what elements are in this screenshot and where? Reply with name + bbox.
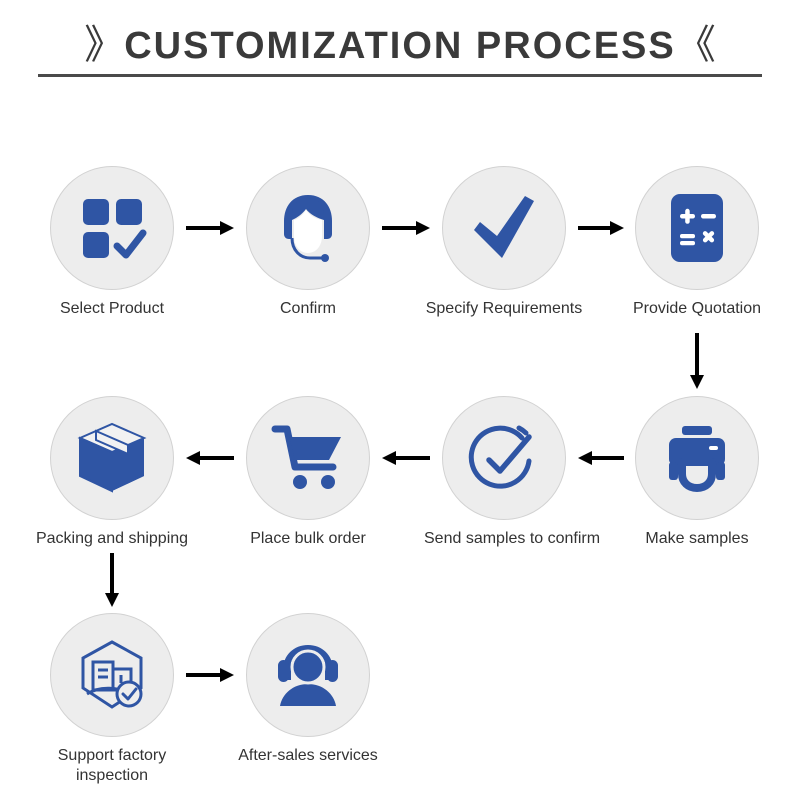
step-icon-circle bbox=[442, 166, 566, 290]
process-step-make-samples[interactable]: Make samples bbox=[617, 396, 777, 549]
process-step-provide-quotation[interactable]: Provide Quotation bbox=[617, 166, 777, 319]
step-label: Specify Requirements bbox=[424, 299, 584, 319]
process-step-after-sales-services[interactable]: After-sales services bbox=[228, 613, 388, 766]
step-icon-circle bbox=[50, 166, 174, 290]
connector-arrow-left-3 bbox=[186, 448, 234, 468]
connector-arrow-right-2 bbox=[382, 218, 430, 238]
step-label: Select Product bbox=[32, 299, 192, 319]
grid-check-icon bbox=[77, 193, 147, 263]
connector-arrow-left-1 bbox=[578, 448, 624, 468]
process-step-packing-and-shipping[interactable]: Packing and shipping bbox=[32, 396, 192, 549]
step-label: Send samples to confirm bbox=[424, 529, 584, 549]
process-step-support-factory-inspection[interactable]: Support factory inspection bbox=[32, 613, 192, 786]
factory-shield-icon bbox=[75, 638, 149, 712]
process-step-send-samples-to-confirm[interactable]: Send samples to confirm bbox=[424, 396, 584, 549]
step-icon-circle bbox=[635, 396, 759, 520]
process-step-select-product[interactable]: Select Product bbox=[32, 166, 192, 319]
support-person-icon bbox=[270, 640, 346, 710]
connector-arrow-right-4 bbox=[186, 665, 234, 685]
process-step-specify-requirements[interactable]: Specify Requirements bbox=[424, 166, 584, 319]
circle-check-icon bbox=[467, 421, 541, 495]
connector-arrow-left-2 bbox=[382, 448, 430, 468]
step-label: Make samples bbox=[617, 529, 777, 549]
calculator-icon bbox=[663, 192, 731, 264]
check-mark-icon bbox=[466, 190, 542, 266]
connector-arrow-down-2 bbox=[102, 553, 122, 607]
headset-agent-icon bbox=[270, 190, 346, 266]
package-box-icon bbox=[74, 421, 150, 495]
connector-arrow-right-3 bbox=[578, 218, 624, 238]
process-step-confirm[interactable]: Confirm bbox=[228, 166, 388, 319]
step-icon-circle bbox=[246, 613, 370, 737]
step-icon-circle bbox=[246, 396, 370, 520]
step-icon-circle bbox=[50, 613, 174, 737]
step-label: Packing and shipping bbox=[32, 529, 192, 549]
step-icon-circle bbox=[442, 396, 566, 520]
connector-arrow-right-1 bbox=[186, 218, 234, 238]
printer-icon bbox=[661, 424, 733, 492]
step-label: Provide Quotation bbox=[617, 299, 777, 319]
step-icon-circle bbox=[50, 396, 174, 520]
step-label: Place bulk order bbox=[228, 529, 388, 549]
step-icon-circle bbox=[635, 166, 759, 290]
step-label: Support factory inspection bbox=[32, 746, 192, 786]
process-flow-diagram: Select Product Confirm Specify Requireme… bbox=[0, 0, 800, 800]
step-icon-circle bbox=[246, 166, 370, 290]
shopping-cart-icon bbox=[271, 423, 345, 493]
step-label: After-sales services bbox=[228, 746, 388, 766]
connector-arrow-down-1 bbox=[687, 333, 707, 389]
step-label: Confirm bbox=[228, 299, 388, 319]
process-step-place-bulk-order[interactable]: Place bulk order bbox=[228, 396, 388, 549]
